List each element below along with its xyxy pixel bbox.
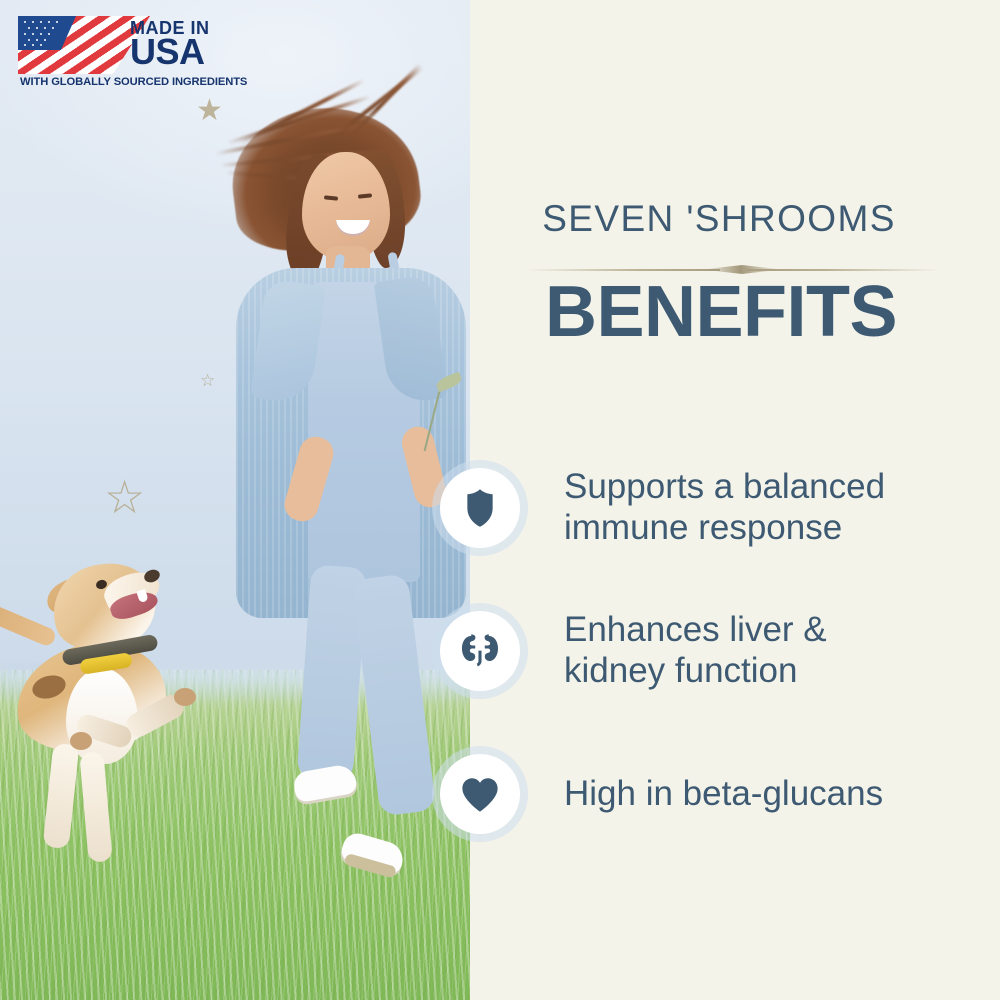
star-solid-icon: ★	[196, 96, 223, 126]
divider-line-left	[526, 269, 720, 271]
benefit-label: Enhances liver & kidney function	[564, 610, 827, 691]
benefit-label: Supports a balanced immune response	[564, 467, 885, 548]
benefit-label: High in beta-glucans	[564, 774, 883, 815]
benefit-icon-container	[432, 746, 528, 842]
benefits-list: Supports a balanced immune response Enha…	[432, 460, 992, 889]
dog-paw	[174, 688, 196, 706]
benefit-icon-container	[432, 603, 528, 699]
dog-hind-leg	[43, 743, 80, 849]
woman-figure	[196, 96, 470, 896]
infographic-canvas: ★ ☆ ☆ MADE IN USA WITH GLOBALLY SOURCED …	[0, 0, 1000, 1000]
content-panel: SEVEN 'SHROOMS BENEFITS Supports a bal	[470, 0, 1000, 1000]
dog-hind-leg	[79, 751, 112, 863]
face	[302, 152, 390, 260]
kidneys-icon	[457, 628, 503, 674]
badge-subtitle: WITH GLOBALLY SOURCED INGREDIENTS	[20, 76, 247, 88]
star-outline-small-icon: ☆	[200, 372, 215, 389]
legs	[304, 566, 432, 876]
badge-country-label: USA	[130, 34, 205, 70]
dog-figure	[0, 556, 228, 916]
heart-icon	[457, 771, 503, 817]
dog-paw	[70, 732, 92, 750]
shield-icon	[457, 485, 503, 531]
benefit-item: Enhances liver & kidney function	[432, 603, 992, 699]
page-title: BENEFITS	[470, 276, 972, 348]
leg-right	[352, 573, 437, 816]
benefit-item: High in beta-glucans	[432, 746, 992, 842]
kicker-title: SEVEN 'SHROOMS	[470, 198, 968, 240]
divider-line-right	[746, 269, 940, 271]
star-outline-icon: ☆	[104, 474, 145, 520]
benefit-item: Supports a balanced immune response	[432, 460, 992, 556]
benefit-icon-container	[432, 460, 528, 556]
made-in-usa-badge: MADE IN USA WITH GLOBALLY SOURCED INGRED…	[18, 14, 234, 94]
hero-photo: ★ ☆ ☆ MADE IN USA WITH GLOBALLY SOURCED …	[0, 0, 470, 1000]
